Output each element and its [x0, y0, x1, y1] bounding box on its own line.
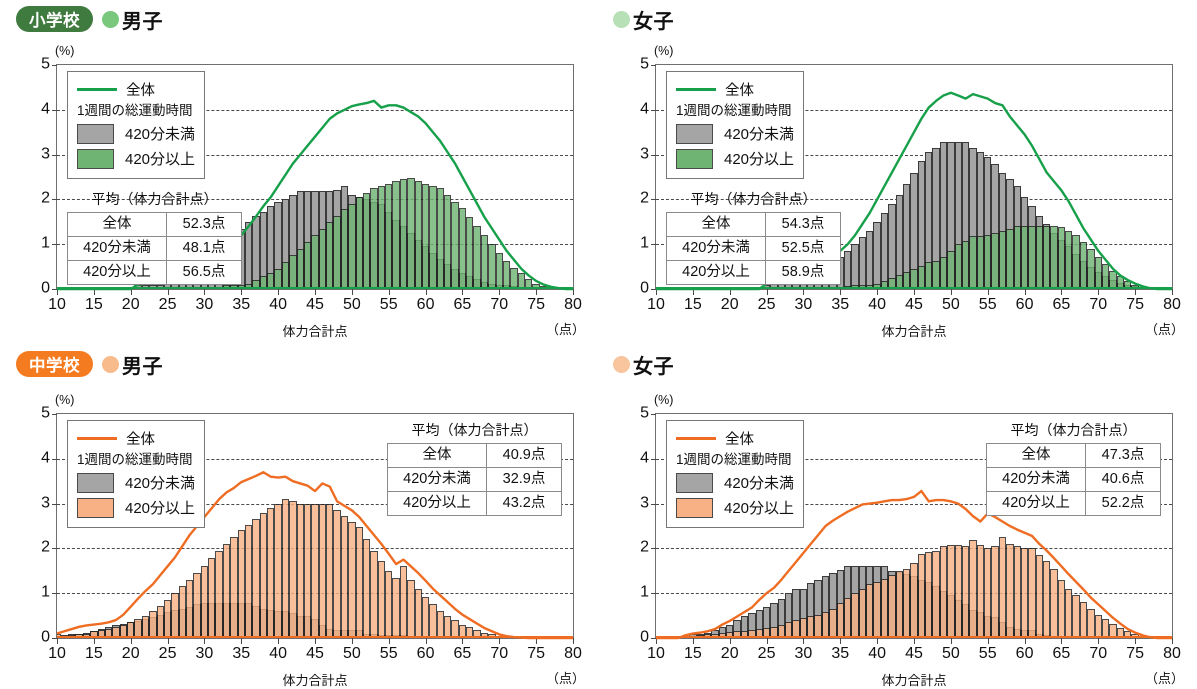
y-tick-label-3: 3 [41, 494, 50, 512]
sex-label: 男子 [122, 5, 163, 34]
x-axis-title: 体力合計点 [881, 670, 946, 689]
x-tick-60 [426, 289, 427, 295]
x-tick-label-50: 50 [942, 645, 960, 663]
legend-row-over: 420分以上 [676, 495, 794, 520]
mean-value-under: 40.6点 [1086, 468, 1161, 492]
sex-dot-icon [613, 356, 630, 373]
mean-key-over: 420分以上 [68, 261, 167, 285]
x-tick-55 [389, 638, 390, 644]
x-tick-label-75: 75 [527, 296, 545, 314]
legend-label-under: 420分未満 [724, 472, 794, 493]
legend-label-under: 420分未満 [125, 472, 195, 493]
x-tick-label-65: 65 [454, 645, 472, 663]
x-tick-40 [278, 638, 279, 644]
chart-legend: 全体1週間の総運動時間420分未満420分以上 [666, 420, 804, 528]
mean-key-under: 420分未満 [987, 468, 1086, 492]
x-tick-label-25: 25 [159, 296, 177, 314]
legend-line-swatch [676, 88, 716, 91]
x-tick-55 [988, 289, 989, 295]
x-tick-45 [315, 638, 316, 644]
mean-table: 全体54.3点420分未満52.5点420分以上58.9点 [666, 212, 841, 285]
x-tick-label-50: 50 [343, 296, 361, 314]
legend-row-total: 全体 [676, 78, 794, 101]
x-tick-80 [1172, 289, 1173, 295]
x-tick-label-30: 30 [196, 645, 214, 663]
legend-row-over: 420分以上 [676, 146, 794, 171]
x-tick-label-35: 35 [232, 296, 250, 314]
sex-label: 女子 [633, 350, 674, 379]
y-tick-label-5: 5 [640, 405, 649, 423]
mean-row-under: 420分未満40.6点 [987, 468, 1161, 492]
x-tick-20 [730, 638, 731, 644]
x-tick-45 [914, 638, 915, 644]
mean-table-box: 平均（体力合計点）全体40.9点420分未満32.9点420分以上43.2点 [387, 420, 562, 516]
mean-key-total: 全体 [388, 444, 487, 468]
legend-swatch-over [676, 498, 713, 518]
y-tick-label-4: 4 [41, 100, 50, 118]
legend-row-total: 全体 [676, 427, 794, 450]
mean-key-under: 420分未満 [68, 237, 167, 261]
legend-group-title: 1週間の総運動時間 [77, 101, 195, 121]
mean-table-title: 平均（体力合計点） [387, 420, 562, 440]
x-tick-label-25: 25 [758, 296, 776, 314]
x-tick-30 [204, 638, 205, 644]
y-axis-unit: (%) [654, 393, 673, 407]
x-tick-label-80: 80 [564, 296, 582, 314]
x-tick-label-15: 15 [684, 645, 702, 663]
x-tick-65 [462, 289, 463, 295]
y-tick-label-4: 4 [640, 449, 649, 467]
y-tick-label-2: 2 [41, 190, 50, 208]
x-tick-label-65: 65 [454, 296, 472, 314]
chart-panel-junior-girls: 女子(%)01234510152025303540455055606570758… [599, 345, 1197, 689]
x-tick-label-20: 20 [721, 296, 739, 314]
y-tick-label-0: 0 [41, 629, 50, 647]
x-tick-label-10: 10 [647, 645, 665, 663]
x-tick-55 [389, 289, 390, 295]
x-tick-30 [204, 289, 205, 295]
x-tick-45 [315, 289, 316, 295]
x-tick-70 [1098, 289, 1099, 295]
x-tick-label-70: 70 [1089, 296, 1107, 314]
y-tick-label-2: 2 [640, 190, 649, 208]
y-axis-unit: (%) [55, 393, 74, 407]
x-tick-40 [278, 289, 279, 295]
mean-row-under: 420分未満52.5点 [667, 237, 841, 261]
mean-value-total: 54.3点 [766, 213, 841, 237]
legend-swatch-under [77, 473, 114, 493]
y-tick-label-5: 5 [41, 405, 50, 423]
x-tick-label-40: 40 [269, 296, 287, 314]
chart-panel-elementary-boys: 小学校男子(%)01234510152025303540455055606570… [0, 0, 598, 344]
y-tick-label-3: 3 [640, 145, 649, 163]
legend-label-over: 420分以上 [724, 148, 794, 169]
x-tick-label-75: 75 [527, 645, 545, 663]
legend-group-title: 1週間の総運動時間 [676, 450, 794, 470]
x-tick-45 [914, 289, 915, 295]
x-tick-70 [1098, 638, 1099, 644]
x-axis-unit: （点） [546, 319, 585, 338]
x-tick-25 [168, 638, 169, 644]
x-tick-30 [803, 638, 804, 644]
x-tick-label-45: 45 [306, 296, 324, 314]
x-tick-75 [1135, 289, 1136, 295]
x-axis-unit: （点） [1145, 319, 1184, 338]
x-tick-40 [877, 638, 878, 644]
mean-row-over: 420分以上43.2点 [388, 492, 562, 516]
x-tick-label-40: 40 [868, 296, 886, 314]
x-tick-label-55: 55 [979, 645, 997, 663]
plot-area-junior-girls: (%)012345101520253035404550556065707580体… [655, 413, 1173, 639]
mean-table-title: 平均（体力合計点） [666, 189, 841, 209]
x-tick-50 [352, 638, 353, 644]
panel-header-junior-girls: 女子 [613, 349, 674, 379]
mean-key-total: 全体 [667, 213, 766, 237]
y-tick-label-1: 1 [41, 235, 50, 253]
mean-row-over: 420分以上58.9点 [667, 261, 841, 285]
y-tick-label-3: 3 [640, 494, 649, 512]
x-tick-65 [1061, 289, 1062, 295]
x-tick-label-45: 45 [905, 645, 923, 663]
mean-value-over: 58.9点 [766, 261, 841, 285]
y-tick-label-1: 1 [640, 584, 649, 602]
x-tick-15 [94, 638, 95, 644]
x-tick-label-60: 60 [1016, 296, 1034, 314]
x-tick-label-75: 75 [1126, 645, 1144, 663]
y-axis-unit: (%) [55, 44, 74, 58]
legend-label-total: 全体 [725, 79, 754, 100]
x-tick-label-15: 15 [684, 296, 702, 314]
mean-value-under: 52.5点 [766, 237, 841, 261]
legend-row-under: 420分未満 [77, 470, 195, 495]
legend-group-title: 1週間の総運動時間 [77, 450, 195, 470]
x-tick-50 [352, 289, 353, 295]
x-axis-baseline [656, 287, 1172, 289]
x-tick-25 [767, 638, 768, 644]
legend-row-total: 全体 [77, 427, 195, 450]
legend-label-total: 全体 [126, 79, 155, 100]
y-tick-label-3: 3 [41, 145, 50, 163]
panel-header-elementary-girls: 女子 [613, 4, 674, 34]
mean-row-under: 420分未満48.1点 [68, 237, 242, 261]
x-tick-label-20: 20 [122, 296, 140, 314]
x-tick-label-80: 80 [564, 645, 582, 663]
x-tick-label-15: 15 [85, 645, 103, 663]
legend-swatch-over [77, 149, 114, 169]
y-tick-label-2: 2 [640, 539, 649, 557]
sex-dot-icon [613, 11, 630, 28]
x-axis-unit: （点） [546, 668, 585, 687]
x-tick-70 [499, 638, 500, 644]
legend-line-swatch [77, 437, 117, 440]
x-tick-50 [951, 289, 952, 295]
x-tick-65 [462, 638, 463, 644]
legend-label-under: 420分未満 [125, 123, 195, 144]
mean-key-over: 420分以上 [388, 492, 487, 516]
x-tick-label-20: 20 [122, 645, 140, 663]
mean-row-total: 全体47.3点 [987, 444, 1161, 468]
y-tick-label-2: 2 [41, 539, 50, 557]
x-tick-label-10: 10 [48, 645, 66, 663]
mean-table-box: 平均（体力合計点）全体47.3点420分未満40.6点420分以上52.2点 [986, 420, 1161, 516]
y-axis-unit: (%) [654, 44, 673, 58]
x-tick-60 [1025, 289, 1026, 295]
x-tick-label-65: 65 [1053, 645, 1071, 663]
mean-value-over: 43.2点 [487, 492, 562, 516]
x-tick-label-30: 30 [795, 645, 813, 663]
mean-row-over: 420分以上56.5点 [68, 261, 242, 285]
x-tick-label-60: 60 [417, 645, 435, 663]
mean-table: 全体40.9点420分未満32.9点420分以上43.2点 [387, 443, 562, 516]
mean-value-total: 52.3点 [167, 213, 242, 237]
x-tick-label-75: 75 [1126, 296, 1144, 314]
legend-row-under: 420分未満 [676, 121, 794, 146]
y-tick-label-0: 0 [640, 629, 649, 647]
school-badge: 中学校 [16, 351, 93, 377]
x-tick-35 [840, 638, 841, 644]
mean-value-over: 52.2点 [1086, 492, 1161, 516]
legend-swatch-under [676, 124, 713, 144]
mean-table: 全体52.3点420分未満48.1点420分以上56.5点 [67, 212, 242, 285]
y-tick-label-1: 1 [640, 235, 649, 253]
legend-swatch-over [77, 498, 114, 518]
x-tick-label-45: 45 [905, 296, 923, 314]
x-axis-baseline [656, 636, 1172, 638]
x-tick-label-80: 80 [1163, 645, 1181, 663]
mean-key-under: 420分未満 [388, 468, 487, 492]
sex-dot-icon [102, 356, 119, 373]
sex-group: 女子 [613, 350, 674, 379]
x-tick-label-70: 70 [490, 296, 508, 314]
mean-row-total: 全体40.9点 [388, 444, 562, 468]
x-tick-60 [426, 638, 427, 644]
mean-row-total: 全体52.3点 [68, 213, 242, 237]
school-badge: 小学校 [16, 6, 93, 32]
x-tick-label-55: 55 [380, 645, 398, 663]
x-tick-label-40: 40 [868, 645, 886, 663]
y-tick-label-5: 5 [41, 56, 50, 74]
mean-table-title: 平均（体力合計点） [67, 189, 242, 209]
x-axis-title: 体力合計点 [282, 321, 347, 340]
x-tick-50 [951, 638, 952, 644]
y-tick-label-1: 1 [41, 584, 50, 602]
legend-row-under: 420分未満 [77, 121, 195, 146]
x-tick-label-35: 35 [831, 645, 849, 663]
legend-label-under: 420分未満 [724, 123, 794, 144]
x-tick-label-80: 80 [1163, 296, 1181, 314]
mean-row-under: 420分未満32.9点 [388, 468, 562, 492]
x-tick-80 [573, 289, 574, 295]
mean-row-total: 全体54.3点 [667, 213, 841, 237]
legend-line-swatch [77, 88, 117, 91]
chart-panel-elementary-girls: 女子(%)01234510152025303540455055606570758… [599, 0, 1197, 344]
x-tick-label-70: 70 [1089, 645, 1107, 663]
x-tick-25 [168, 289, 169, 295]
legend-label-over: 420分以上 [724, 497, 794, 518]
mean-value-total: 40.9点 [487, 444, 562, 468]
mean-key-total: 全体 [68, 213, 167, 237]
x-tick-20 [131, 638, 132, 644]
mean-key-over: 420分以上 [987, 492, 1086, 516]
y-tick-label-0: 0 [640, 280, 649, 298]
mean-table: 全体47.3点420分未満40.6点420分以上52.2点 [986, 443, 1161, 516]
y-tick-label-4: 4 [640, 100, 649, 118]
sex-group: 男子 [102, 5, 163, 34]
x-axis-title: 体力合計点 [282, 670, 347, 689]
mean-value-total: 47.3点 [1086, 444, 1161, 468]
x-axis-unit: （点） [1145, 668, 1184, 687]
chart-legend: 全体1週間の総運動時間420分未満420分以上 [67, 71, 205, 179]
x-tick-label-50: 50 [942, 296, 960, 314]
x-tick-label-55: 55 [380, 296, 398, 314]
x-tick-10 [57, 638, 58, 644]
plot-area-elementary-girls: (%)012345101520253035404550556065707580体… [655, 64, 1173, 290]
x-tick-15 [693, 638, 694, 644]
chart-panel-junior-boys: 中学校男子(%)01234510152025303540455055606570… [0, 345, 598, 689]
mean-row-over: 420分以上52.2点 [987, 492, 1161, 516]
panel-header-junior-boys: 中学校男子 [16, 349, 163, 379]
legend-label-total: 全体 [126, 428, 155, 449]
x-tick-35 [241, 638, 242, 644]
x-tick-65 [1061, 638, 1062, 644]
y-tick-label-0: 0 [41, 280, 50, 298]
mean-key-over: 420分以上 [667, 261, 766, 285]
x-tick-55 [988, 638, 989, 644]
y-tick-label-5: 5 [640, 56, 649, 74]
x-tick-35 [241, 289, 242, 295]
x-tick-75 [1135, 638, 1136, 644]
x-tick-label-35: 35 [831, 296, 849, 314]
mean-value-under: 32.9点 [487, 468, 562, 492]
mean-table-box: 平均（体力合計点）全体54.3点420分未満52.5点420分以上58.9点 [666, 189, 841, 285]
y-tick-label-4: 4 [41, 449, 50, 467]
sex-dot-icon [102, 11, 119, 28]
x-tick-label-10: 10 [48, 296, 66, 314]
x-tick-75 [536, 289, 537, 295]
x-axis-baseline [57, 636, 573, 638]
chart-legend: 全体1週間の総運動時間420分未満420分以上 [67, 420, 205, 528]
legend-label-total: 全体 [725, 428, 754, 449]
x-tick-label-10: 10 [647, 296, 665, 314]
x-tick-label-30: 30 [795, 296, 813, 314]
x-tick-80 [1172, 638, 1173, 644]
x-tick-label-25: 25 [758, 645, 776, 663]
mean-value-under: 48.1点 [167, 237, 242, 261]
sex-label: 男子 [122, 350, 163, 379]
x-tick-label-30: 30 [196, 296, 214, 314]
x-tick-80 [573, 638, 574, 644]
plot-area-junior-boys: (%)012345101520253035404550556065707580体… [56, 413, 574, 639]
legend-row-over: 420分以上 [77, 146, 195, 171]
mean-value-over: 56.5点 [167, 261, 242, 285]
legend-label-over: 420分以上 [125, 148, 195, 169]
x-tick-label-55: 55 [979, 296, 997, 314]
x-tick-label-20: 20 [721, 645, 739, 663]
x-tick-label-50: 50 [343, 645, 361, 663]
mean-table-box: 平均（体力合計点）全体52.3点420分未満48.1点420分以上56.5点 [67, 189, 242, 285]
x-tick-label-60: 60 [1016, 645, 1034, 663]
sex-label: 女子 [633, 5, 674, 34]
x-tick-label-60: 60 [417, 296, 435, 314]
x-tick-40 [877, 289, 878, 295]
sex-group: 女子 [613, 5, 674, 34]
x-tick-30 [803, 289, 804, 295]
chart-legend: 全体1週間の総運動時間420分未満420分以上 [666, 71, 804, 179]
x-tick-label-65: 65 [1053, 296, 1071, 314]
x-tick-70 [499, 289, 500, 295]
x-tick-label-45: 45 [306, 645, 324, 663]
legend-label-over: 420分以上 [125, 497, 195, 518]
x-tick-label-35: 35 [232, 645, 250, 663]
panel-header-elementary-boys: 小学校男子 [16, 4, 163, 34]
legend-swatch-over [676, 149, 713, 169]
chart-sheet: 小学校男子(%)01234510152025303540455055606570… [0, 0, 1197, 689]
plot-area-elementary-boys: (%)012345101520253035404550556065707580体… [56, 64, 574, 290]
x-tick-35 [840, 289, 841, 295]
x-tick-60 [1025, 638, 1026, 644]
legend-line-swatch [676, 437, 716, 440]
legend-row-total: 全体 [77, 78, 195, 101]
x-tick-label-25: 25 [159, 645, 177, 663]
x-tick-label-70: 70 [490, 645, 508, 663]
mean-table-title: 平均（体力合計点） [986, 420, 1161, 440]
legend-swatch-under [77, 124, 114, 144]
sex-group: 男子 [102, 350, 163, 379]
x-axis-title: 体力合計点 [881, 321, 946, 340]
legend-group-title: 1週間の総運動時間 [676, 101, 794, 121]
mean-key-under: 420分未満 [667, 237, 766, 261]
legend-swatch-under [676, 473, 713, 493]
mean-key-total: 全体 [987, 444, 1086, 468]
x-tick-label-15: 15 [85, 296, 103, 314]
x-tick-25 [767, 289, 768, 295]
legend-row-over: 420分以上 [77, 495, 195, 520]
legend-row-under: 420分未満 [676, 470, 794, 495]
x-tick-label-40: 40 [269, 645, 287, 663]
x-axis-baseline [57, 287, 573, 289]
